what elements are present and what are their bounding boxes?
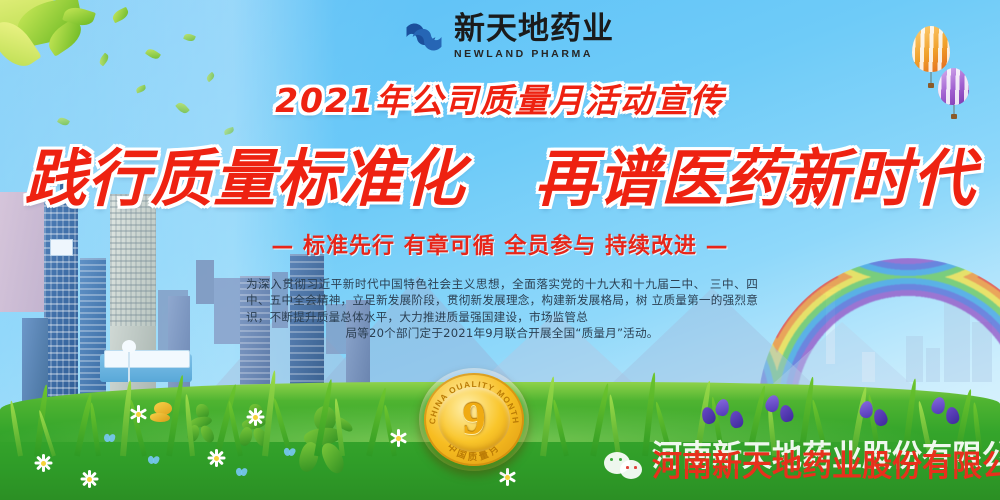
company-logo: 新天地药业 NEWLAND PHARMA: [403, 14, 614, 60]
logo-cn-name: 新天地药业: [454, 11, 614, 47]
body-paragraph: 为深入贯彻习近平新时代中国特色社会主义思想，全面落实党的十九大和十九届二中、 三…: [246, 276, 758, 341]
headline-left: 践行质量标准化: [24, 142, 465, 215]
page-title: 践行质量标准化 再谱医药新时代: [0, 128, 1000, 218]
company-name-red-layer: 河南新天地药业股份有限公司: [652, 452, 1000, 482]
china-quality-month-medal: CHINA QUALITY MONTH 中国质量月 9: [419, 368, 529, 471]
medal-number: 9: [419, 395, 529, 442]
subtitle: 2021年公司质量月活动宣传: [0, 74, 1000, 122]
quality-month-banner: CHINA QUALITY MONTH 中国质量月 9 新天地药业 NEWLAN…: [0, 0, 1000, 500]
wechat-icon: [604, 448, 646, 482]
paragraph-line-4: 局等20个部门定于2021年9月联合开展全国“质量月”活动。: [246, 325, 758, 341]
wechat-watermark: 河南新天地药业股份有限公司 河南新天地药业股份有限公司: [604, 440, 652, 482]
paragraph-line-1: 为深入贯彻习近平新时代中国特色社会主义思想，全面落实党的十九大和十九届二中、: [246, 277, 706, 291]
orange-striped-balloon: [912, 26, 950, 72]
logo-en-name: NEWLAND PHARMA: [454, 48, 614, 60]
headline-right: 再谱医药新时代: [535, 142, 976, 215]
newland-wave-mark: [403, 16, 445, 58]
tagline: — 标准先行 有章可循 全员参与 持续改进 —: [0, 228, 1000, 260]
